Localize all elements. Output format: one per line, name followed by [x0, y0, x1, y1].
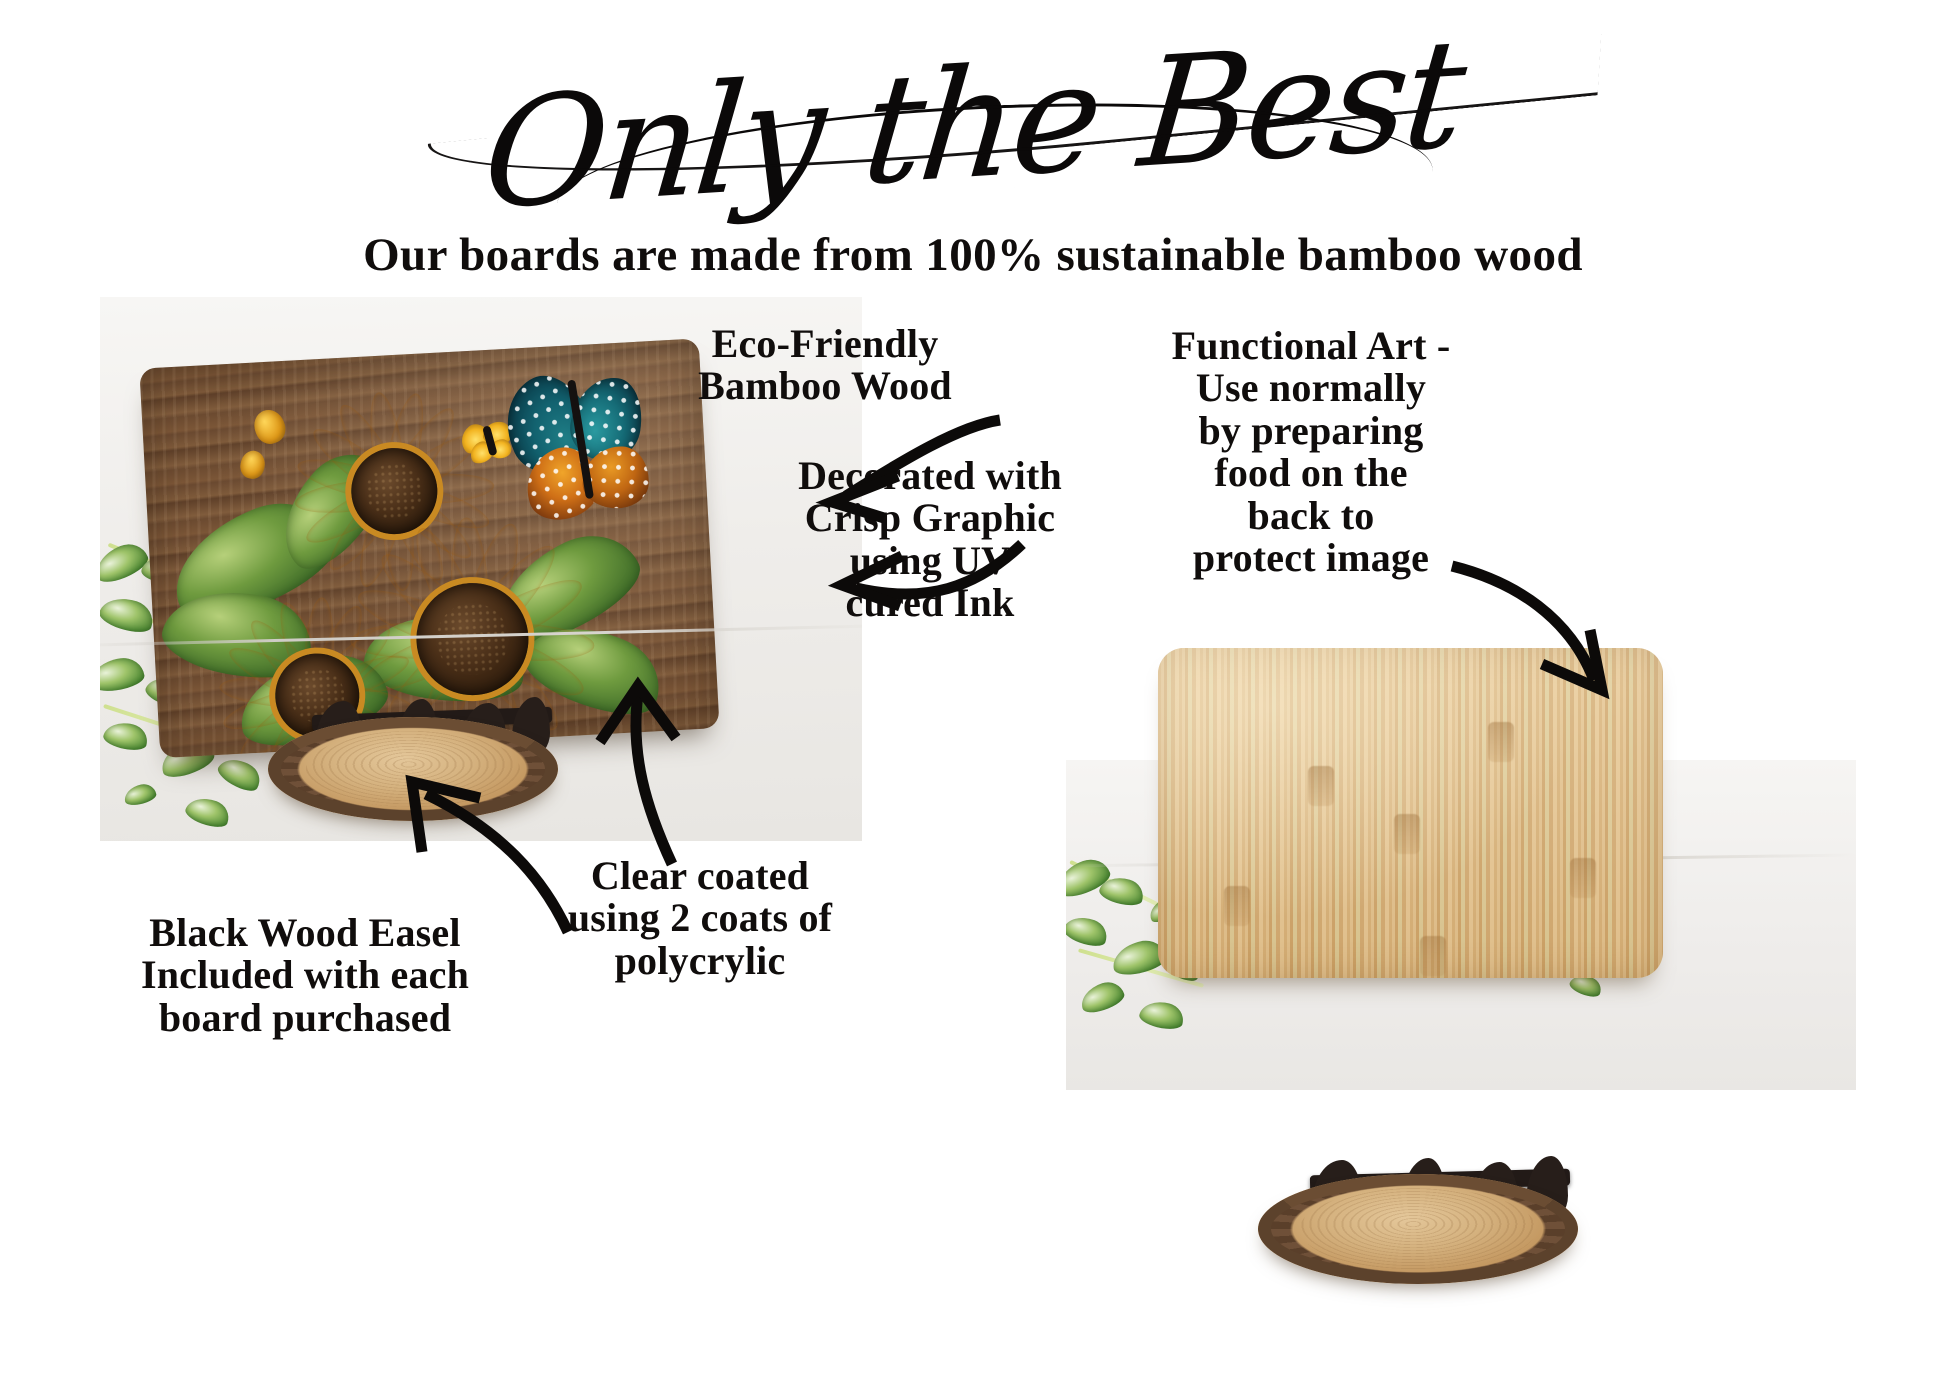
sunflower-bud: [250, 405, 290, 448]
annotation-easel-line-2: Included with each: [80, 954, 530, 996]
annotation-functional-line-2: Use normally: [1136, 367, 1486, 409]
annotation-functional-line-4: food on the: [1136, 452, 1486, 494]
annotation-eco-line-1: Eco-Friendly: [660, 323, 990, 365]
annotation-functional-line-5: back to: [1136, 495, 1486, 537]
page-subtitle: Our boards are made from 100% sustainabl…: [0, 228, 1946, 282]
log-growth-rings: [1300, 1188, 1537, 1269]
annotation-functional-line-3: by preparing: [1136, 410, 1486, 452]
infographic-canvas: Only the Best Our boards are made from 1…: [0, 0, 1946, 1390]
butterfly-large-teal-icon: [499, 360, 672, 542]
annotation-eco-line-2: Bamboo Wood: [660, 365, 990, 407]
arrow-to-board-top: [810, 414, 1010, 524]
page-title-script: Only the Best: [0, 0, 1946, 262]
annotation-functional-line-1: Functional Art -: [1136, 325, 1486, 367]
annotation-easel-line-3: board purchased: [80, 997, 530, 1039]
arrow-to-graphic: [822, 530, 1032, 620]
annotation-eco-friendly: Eco-Friendly Bamboo Wood: [660, 323, 990, 408]
log-slice-base: [1258, 1174, 1578, 1284]
arrow-to-back-of-board: [1430, 560, 1630, 700]
arrow-to-easel-base: [400, 760, 590, 940]
annotation-functional-art: Functional Art - Use normally by prepari…: [1136, 325, 1486, 579]
sunflower-bud: [238, 449, 267, 481]
annotation-clear-line-3: polycrylic: [520, 940, 880, 982]
